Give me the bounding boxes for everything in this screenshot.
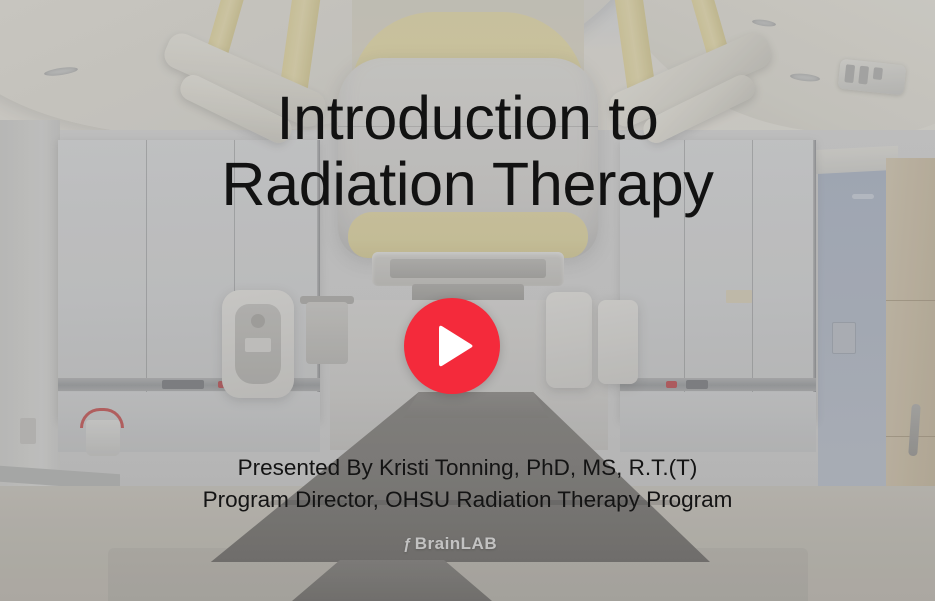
video-title-line-2: Radiation Therapy	[0, 152, 935, 218]
play-button[interactable]	[404, 298, 500, 394]
video-title: Introduction to Radiation Therapy	[0, 86, 935, 218]
video-title-line-1: Introduction to	[0, 86, 935, 152]
play-triangle-icon	[435, 324, 475, 368]
video-player-poster[interactable]: ƒBrainLAB Introduction to Radiation Ther…	[0, 0, 935, 601]
presenter-credits-line-2: Program Director, OHSU Radiation Therapy…	[0, 484, 935, 516]
presenter-credits: Presented By Kristi Tonning, PhD, MS, R.…	[0, 452, 935, 516]
presenter-credits-line-1: Presented By Kristi Tonning, PhD, MS, R.…	[0, 452, 935, 484]
